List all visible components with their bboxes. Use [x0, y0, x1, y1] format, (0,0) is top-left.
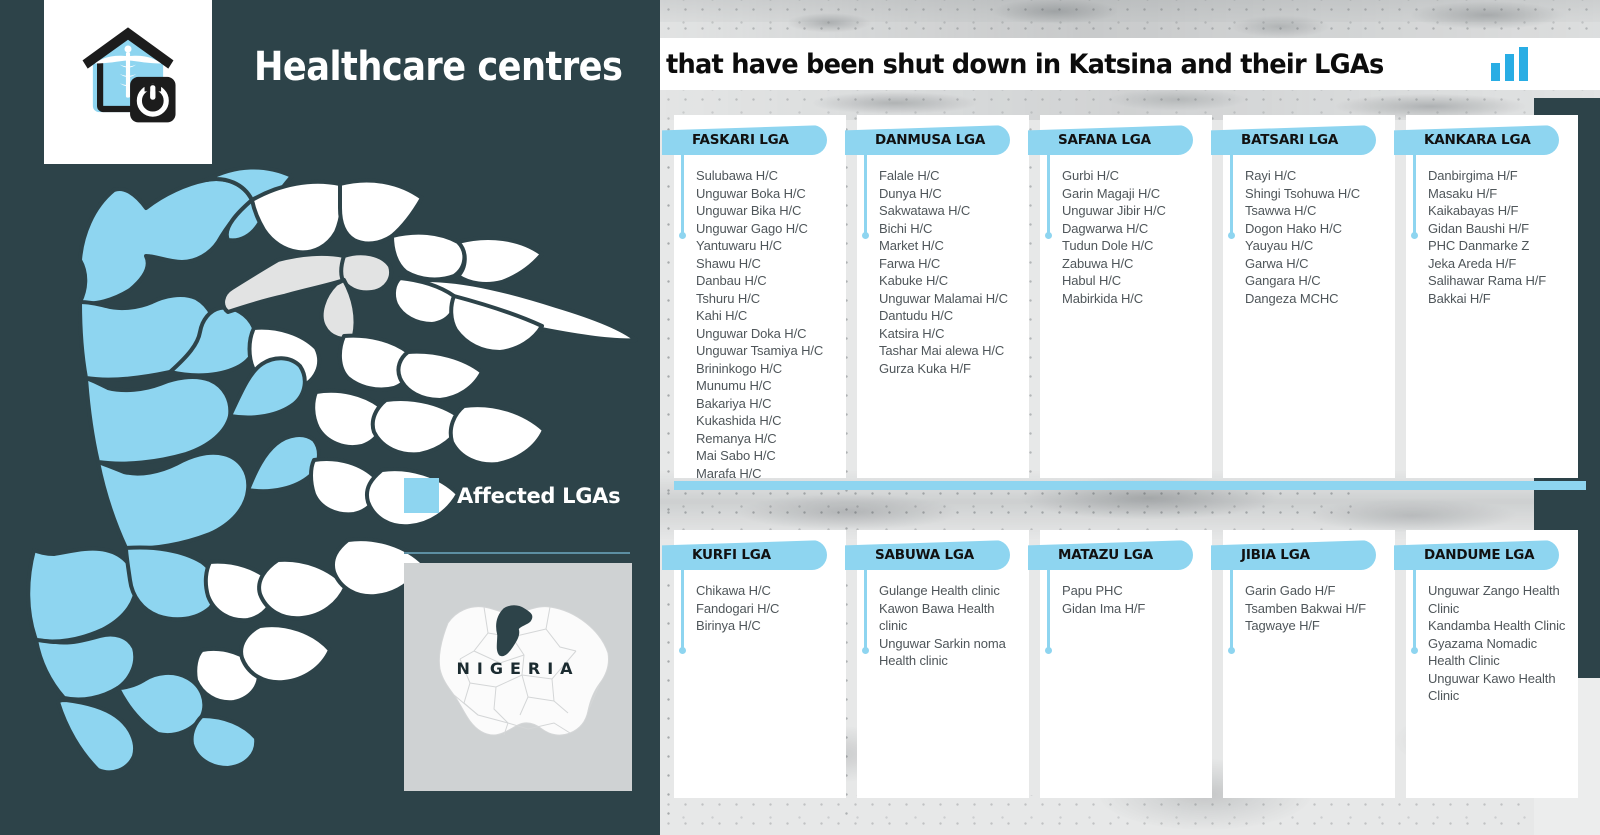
facility-item: Zabuwa H/C — [1062, 255, 1204, 273]
facility-list: Gurbi H/CGarin Magaji H/CUnguwar Jibir H… — [1062, 167, 1204, 307]
facility-item: Katsira H/C — [879, 325, 1021, 343]
lga-card: FASKARI LGASulubawa H/CUnguwar Boka H/CU… — [674, 115, 846, 478]
facility-item: Fandogari H/C — [696, 600, 838, 618]
facility-item: Unguwar Zango Health Clinic — [1428, 582, 1570, 617]
facility-item: Dunya H/C — [879, 185, 1021, 203]
facility-item: Market H/C — [879, 237, 1021, 255]
card-accent-line — [864, 558, 867, 648]
facility-item: Jeka Areda H/F — [1428, 255, 1570, 273]
card-row-bottom: KURFI LGAChikawa H/CFandogari H/CBirinya… — [674, 530, 1586, 798]
facility-item: Unguwar Gago H/C — [696, 220, 838, 238]
lga-title: SAFANA LGA — [1058, 132, 1151, 148]
facility-item: Tudun Dole H/C — [1062, 237, 1204, 255]
facility-item: Papu PHC — [1062, 582, 1204, 600]
facility-item: Unguwar Doka H/C — [696, 325, 838, 343]
facility-item: Dogon Hako H/C — [1245, 220, 1387, 238]
facility-item: PHC Danmarke Z — [1428, 237, 1570, 255]
page-title: Healthcare centres — [254, 44, 622, 90]
lga-title: SABUWA LGA — [875, 547, 974, 563]
facility-item: Unguwar Boka H/C — [696, 185, 838, 203]
facility-item: Bakariya H/C — [696, 395, 838, 413]
texture-top — [660, 0, 1600, 38]
facility-item: Danbau H/C — [696, 272, 838, 290]
lga-header-tab-inner: SAFANA LGA — [1028, 125, 1193, 155]
texture-band-top — [660, 0, 1600, 22]
logo-container — [44, 0, 212, 164]
lga-header-tab: KURFI LGA — [662, 540, 827, 570]
left-panel: Healthcare centres — [0, 0, 660, 835]
lga-title: MATAZU LGA — [1058, 547, 1153, 563]
facility-item: Kahi H/C — [696, 307, 838, 325]
lga-title: DANDUME LGA — [1424, 547, 1534, 563]
facility-item: Dangeza MCHC — [1245, 290, 1387, 308]
lga-header-tab: SABUWA LGA — [845, 540, 1010, 570]
facility-item: Danbirgima H/F — [1428, 167, 1570, 185]
facility-item: Tsawwa H/C — [1245, 202, 1387, 220]
lga-card: KANKARA LGADanbirgima H/FMasaku H/FKaika… — [1406, 115, 1578, 478]
facility-item: Tagwaye H/F — [1245, 617, 1387, 635]
facility-list: Chikawa H/CFandogari H/CBirinya H/C — [696, 582, 838, 635]
facility-list: Garin Gado H/FTsamben Bakwai H/FTagwaye … — [1245, 582, 1387, 635]
lga-header-tab: SAFANA LGA — [1028, 125, 1193, 155]
facility-item: Brininkogo H/C — [696, 360, 838, 378]
lga-header-tab-inner: KURFI LGA — [662, 540, 827, 570]
lga-title: KANKARA LGA — [1424, 132, 1531, 148]
facility-item: Bakkai H/F — [1428, 290, 1570, 308]
clinic-power-off-logo-icon — [66, 17, 190, 141]
lga-header-tab: KANKARA LGA — [1394, 125, 1559, 155]
facility-item: Gangara H/C — [1245, 272, 1387, 290]
facility-item: Mabirkida H/C — [1062, 290, 1204, 308]
facility-item: Yantuwaru H/C — [696, 237, 838, 255]
bar-chart-icon — [1491, 47, 1528, 81]
lga-header-tab: BATSARI LGA — [1211, 125, 1376, 155]
row-divider-bar — [674, 481, 1586, 490]
cards-panel: that have been shut down in Katsina and … — [660, 0, 1600, 835]
facility-item: Gidan Baushi H/F — [1428, 220, 1570, 238]
lga-header-tab-inner: KANKARA LGA — [1394, 125, 1559, 155]
facility-item: Kawon Bawa Health clinic — [879, 600, 1021, 635]
lga-title: BATSARI LGA — [1241, 132, 1338, 148]
facility-item: Bichi H/C — [879, 220, 1021, 238]
lga-card: MATAZU LGAPapu PHCGidan Ima H/F — [1040, 530, 1212, 798]
facility-list: Unguwar Zango Health ClinicKandamba Heal… — [1428, 582, 1570, 705]
legend-swatch — [404, 478, 439, 513]
lga-title: FASKARI LGA — [692, 132, 789, 148]
lga-header-tab-inner: DANDUME LGA — [1394, 540, 1559, 570]
facility-item: Tashar Mai alewa H/C — [879, 342, 1021, 360]
lga-card: JIBIA LGAGarin Gado H/FTsamben Bakwai H/… — [1223, 530, 1395, 798]
legend: Affected LGAs — [404, 478, 620, 513]
facility-item: Salihawar Rama H/F — [1428, 272, 1570, 290]
facility-item: Falale H/C — [879, 167, 1021, 185]
facility-item: Kandamba Health Clinic — [1428, 617, 1570, 635]
facility-list: Danbirgima H/FMasaku H/FKaikabayas H/FGi… — [1428, 167, 1570, 307]
facility-item: Habul H/C — [1062, 272, 1204, 290]
facility-item: Gulange Health clinic — [879, 582, 1021, 600]
facility-item: Yauyau H/C — [1245, 237, 1387, 255]
facility-item: Masaku H/F — [1428, 185, 1570, 203]
facility-item: Dantudu H/C — [879, 307, 1021, 325]
speckle-overlay-center — [660, 484, 1360, 530]
card-accent-line — [1413, 558, 1416, 648]
facility-item: Shawu H/C — [696, 255, 838, 273]
subtitle-text: that have been shut down in Katsina and … — [666, 49, 1383, 80]
facility-item: Unguwar Kawo Health Clinic — [1428, 670, 1570, 705]
facility-item: Gurbi H/C — [1062, 167, 1204, 185]
card-row-top: FASKARI LGASulubawa H/CUnguwar Boka H/CU… — [674, 115, 1586, 478]
facility-item: Sakwatawa H/C — [879, 202, 1021, 220]
speckle-overlay-top — [660, 0, 1600, 40]
speckle-overlay-bottom — [660, 795, 1600, 835]
facility-item: Tsamben Bakwai H/F — [1245, 600, 1387, 618]
lga-header-tab-inner: SABUWA LGA — [845, 540, 1010, 570]
lga-card: BATSARI LGARayi H/CShingi Tsohuwa H/CTsa… — [1223, 115, 1395, 478]
subtitle-strip: that have been shut down in Katsina and … — [660, 38, 1600, 90]
lga-header-tab: MATAZU LGA — [1028, 540, 1193, 570]
lga-header-tab-inner: FASKARI LGA — [662, 125, 827, 155]
card-accent-line — [1413, 143, 1416, 233]
facility-item: Garin Magaji H/C — [1062, 185, 1204, 203]
lga-card: DANDUME LGAUnguwar Zango Health ClinicKa… — [1406, 530, 1578, 798]
lga-card: KURFI LGAChikawa H/CFandogari H/CBirinya… — [674, 530, 846, 798]
card-accent-line — [1047, 558, 1050, 648]
lga-header-tab-inner: JIBIA LGA — [1211, 540, 1376, 570]
lga-header-tab-inner: MATAZU LGA — [1028, 540, 1193, 570]
facility-item: Unguwar Sarkin noma Health clinic — [879, 635, 1021, 670]
facility-item: Unguwar Jibir H/C — [1062, 202, 1204, 220]
facility-item: Shingi Tsohuwa H/C — [1245, 185, 1387, 203]
facility-item: Kabuke H/C — [879, 272, 1021, 290]
facility-item: Kaikabayas H/F — [1428, 202, 1570, 220]
card-accent-line — [681, 143, 684, 233]
facility-item: Marafa H/C — [696, 465, 838, 483]
facility-item: Unguwar Bika H/C — [696, 202, 838, 220]
card-accent-line — [1230, 143, 1233, 233]
facility-item: Mai Sabo H/C — [696, 447, 838, 465]
lga-title: KURFI LGA — [692, 547, 771, 563]
facility-item: Birinya H/C — [696, 617, 838, 635]
lga-card: SAFANA LGAGurbi H/CGarin Magaji H/CUnguw… — [1040, 115, 1212, 478]
facility-list: Gulange Health clinicKawon Bawa Health c… — [879, 582, 1021, 670]
lga-header-tab-inner: BATSARI LGA — [1211, 125, 1376, 155]
facility-item: Munumu H/C — [696, 377, 838, 395]
facility-item: Tshuru H/C — [696, 290, 838, 308]
facility-item: Rayi H/C — [1245, 167, 1387, 185]
facility-item: Garin Gado H/F — [1245, 582, 1387, 600]
facility-item: Sulubawa H/C — [696, 167, 838, 185]
facility-item: Unguwar Malamai H/C — [879, 290, 1021, 308]
facility-item: Gyazama Nomadic Health Clinic — [1428, 635, 1570, 670]
lga-card: DANMUSA LGAFalale H/CDunya H/CSakwatawa … — [857, 115, 1029, 478]
nigeria-inset-map: NIGERIA — [404, 563, 632, 791]
lga-card: SABUWA LGAGulange Health clinicKawon Baw… — [857, 530, 1029, 798]
facility-item: Dagwarwa H/C — [1062, 220, 1204, 238]
facility-item: Unguwar Tsamiya H/C — [696, 342, 838, 360]
card-accent-line — [864, 143, 867, 233]
card-accent-line — [681, 558, 684, 648]
legend-label: Affected LGAs — [457, 484, 620, 508]
lga-header-tab: DANDUME LGA — [1394, 540, 1559, 570]
facility-list: Rayi H/CShingi Tsohuwa H/CTsawwa H/CDogo… — [1245, 167, 1387, 307]
facility-item: Farwa H/C — [879, 255, 1021, 273]
infographic-poster: that have been shut down in Katsina and … — [0, 0, 1600, 835]
facility-list: Falale H/CDunya H/CSakwatawa H/CBichi H/… — [879, 167, 1021, 377]
lga-header-tab: FASKARI LGA — [662, 125, 827, 155]
lga-header-tab-inner: DANMUSA LGA — [845, 125, 1010, 155]
lga-header-tab: DANMUSA LGA — [845, 125, 1010, 155]
card-accent-line — [1230, 558, 1233, 648]
facility-item: Remanya H/C — [696, 430, 838, 448]
legend-divider — [404, 552, 630, 554]
lga-title: DANMUSA LGA — [875, 132, 985, 148]
facility-item: Gidan Ima H/F — [1062, 600, 1204, 618]
facility-list: Sulubawa H/CUnguwar Boka H/CUnguwar Bika… — [696, 167, 838, 482]
facility-item: Garwa H/C — [1245, 255, 1387, 273]
card-accent-line — [1047, 143, 1050, 233]
lga-title: JIBIA LGA — [1241, 547, 1310, 563]
facility-list: Papu PHCGidan Ima H/F — [1062, 582, 1204, 617]
facility-item: Gurza Kuka H/F — [879, 360, 1021, 378]
facility-item: Kukashida H/C — [696, 412, 838, 430]
facility-item: Chikawa H/C — [696, 582, 838, 600]
lga-header-tab: JIBIA LGA — [1211, 540, 1376, 570]
